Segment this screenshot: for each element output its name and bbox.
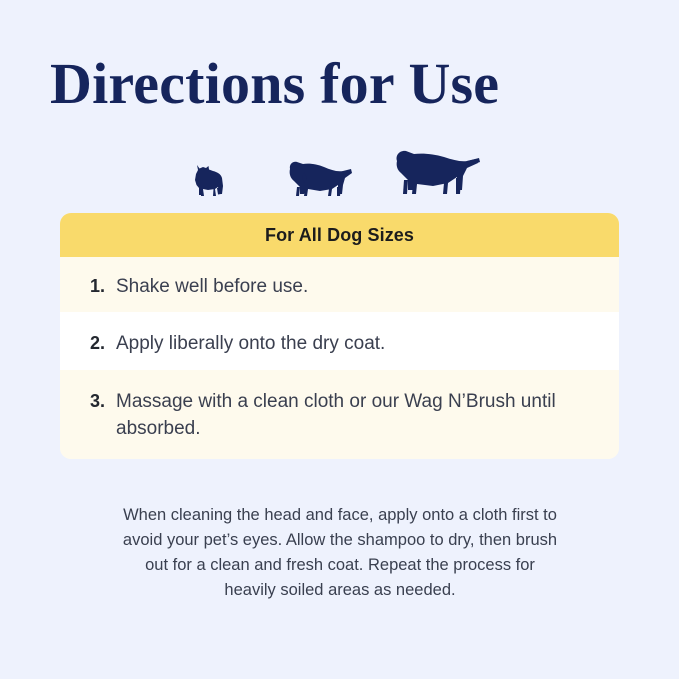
directions-for-use-page: Directions for Use	[0, 0, 679, 679]
page-title: Directions for Use	[50, 52, 499, 116]
step-text: Massage with a clean cloth or our Wag N’…	[114, 388, 619, 442]
step-number: 3.	[90, 388, 114, 414]
card-header-label: For All Dog Sizes	[60, 213, 619, 257]
dog-size-illustration	[60, 133, 620, 203]
medium-dog-silhouette	[282, 157, 354, 203]
steps-list: 1. Shake well before use. 2. Apply liber…	[60, 257, 619, 459]
step-text: Shake well before use.	[114, 273, 308, 300]
step-number: 1.	[90, 273, 114, 299]
list-item: 3. Massage with a clean cloth or our Wag…	[60, 370, 619, 459]
list-item: 1. Shake well before use.	[60, 257, 619, 312]
list-item: 2. Apply liberally onto the dry coat.	[60, 312, 619, 370]
footer-line: heavily soiled areas as needed.	[88, 578, 592, 603]
footer-line: out for a clean and fresh coat. Repeat t…	[88, 553, 592, 578]
footer-line: avoid your pet’s eyes. Allow the shampoo…	[88, 528, 592, 553]
step-text: Apply liberally onto the dry coat.	[114, 330, 385, 357]
small-dog-silhouette	[186, 163, 232, 203]
large-dog-silhouette	[388, 147, 480, 203]
footer-line: When cleaning the head and face, apply o…	[88, 503, 592, 528]
directions-card: For All Dog Sizes 1. Shake well before u…	[60, 213, 619, 459]
footer-note: When cleaning the head and face, apply o…	[88, 503, 592, 603]
step-number: 2.	[90, 330, 114, 356]
